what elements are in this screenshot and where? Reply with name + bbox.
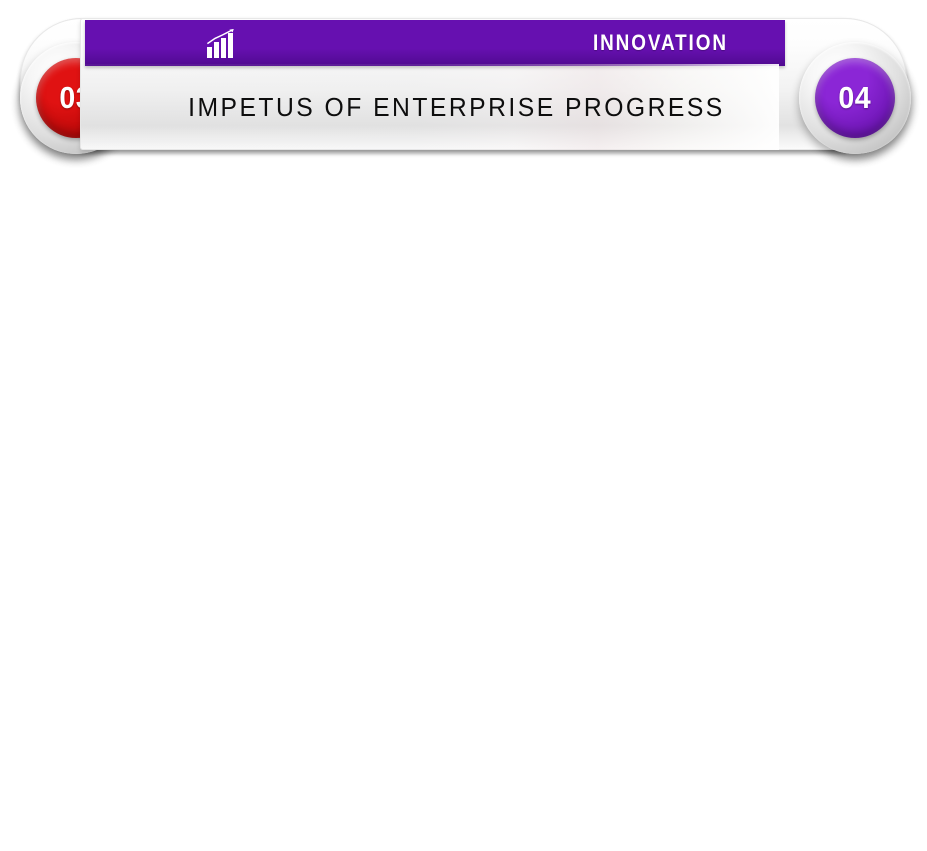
body-text-4: IMPETUS OF ENTERPRISE PROGRESS <box>188 92 725 123</box>
bar-label-4: INNOVATION <box>593 30 728 56</box>
step-number-4: 04 <box>839 80 872 116</box>
body-strip-4: IMPETUS OF ENTERPRISE PROGRESS <box>80 64 779 150</box>
step-badge-disc-4: 04 <box>815 58 895 138</box>
bar-chart-growth-icon <box>205 28 239 60</box>
title-bar-4: INNOVATION <box>85 20 785 66</box>
step-row-4: INNOVATION IMPETUS OF ENTERPRISE PROGRES… <box>0 0 927 150</box>
step-badge-4[interactable]: 04 <box>799 42 911 154</box>
